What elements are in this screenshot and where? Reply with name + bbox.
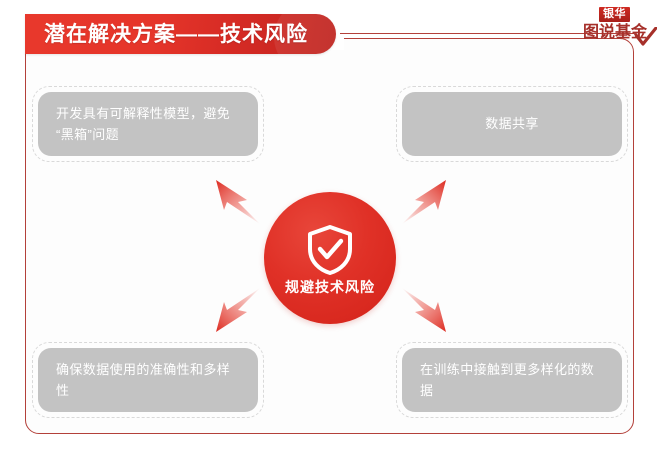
box-surface: 在训练中接触到更多样化的数据: [402, 348, 622, 412]
slide-title-banner: 潜在解决方案——技术风险: [25, 14, 336, 54]
box-text: 数据共享: [485, 113, 539, 134]
slide-canvas: 潜在解决方案——技术风险 银华 图说基金 开发具有可解释性模型，避免“黑箱”问题…: [0, 0, 660, 464]
arrow-down-right-icon: [396, 282, 460, 346]
arrow-up-left-icon: [202, 166, 266, 230]
arrow-down-left-icon: [202, 282, 266, 346]
solution-box-bottom-right[interactable]: 在训练中接触到更多样化的数据: [396, 342, 628, 418]
box-surface: 确保数据使用的准确性和多样性: [38, 348, 258, 412]
solution-box-top-right[interactable]: 数据共享: [396, 86, 628, 162]
solution-box-top-left[interactable]: 开发具有可解释性模型，避免“黑箱”问题: [32, 86, 264, 162]
box-text: 确保数据使用的准确性和多样性: [38, 359, 258, 402]
box-text: 在训练中接触到更多样化的数据: [402, 359, 622, 402]
arrow-up-right-icon: [396, 166, 460, 230]
brand-name-badge: 银华: [599, 7, 630, 22]
center-hub[interactable]: 规避技术风险: [264, 192, 396, 324]
box-text: 开发具有可解释性模型，避免“黑箱”问题: [38, 103, 258, 146]
page-title: 潜在解决方案——技术风险: [44, 24, 308, 45]
solution-box-bottom-left[interactable]: 确保数据使用的准确性和多样性: [32, 342, 264, 418]
brand-logo: 银华 图说基金: [583, 7, 657, 49]
shield-check-icon: [304, 224, 356, 276]
hub-label: 规避技术风险: [285, 280, 375, 294]
box-surface: 数据共享: [402, 92, 622, 156]
box-surface: 开发具有可解释性模型，避免“黑箱”问题: [38, 92, 258, 156]
check-mark-icon: [635, 27, 657, 47]
